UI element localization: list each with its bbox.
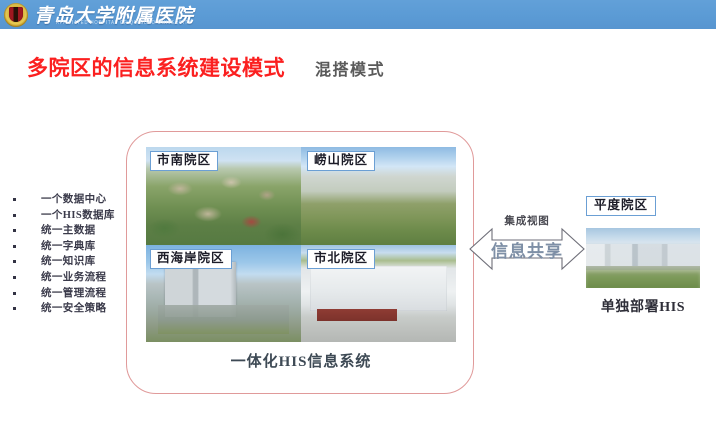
standalone-group-caption: 单独部署HIS bbox=[570, 296, 716, 316]
campus-label-shinan: 市南院区 bbox=[150, 151, 218, 171]
header-band: 青岛大学附属医院 AFFILIATED HOSPITAL OF QINGDAO … bbox=[0, 0, 716, 29]
campus-label-shibei: 市北院区 bbox=[307, 249, 375, 269]
list-item: 统一知识库 bbox=[12, 254, 132, 270]
page-title: 多院区的信息系统建设模式 bbox=[27, 52, 285, 82]
list-item: 一个数据中心 bbox=[12, 192, 132, 208]
page-subtitle-mode: 混搭模式 bbox=[315, 56, 385, 80]
campus-label-xihaian: 西海岸院区 bbox=[150, 249, 232, 269]
integrated-group-caption: 一体化HIS信息系统 bbox=[146, 350, 456, 371]
list-item: 统一安全策略 bbox=[12, 301, 132, 317]
list-item: 统一管理流程 bbox=[12, 286, 132, 302]
list-item: 一个HIS数据库 bbox=[12, 208, 132, 224]
campus-photo-laoshan: 崂山院区 bbox=[301, 147, 456, 245]
campus-photo-xihaian: 西海岸院区 bbox=[146, 245, 301, 343]
feature-bullet-list: 一个数据中心 一个HIS数据库 统一主数据 统一字典库 统一知识库 统一业务流程… bbox=[12, 192, 132, 317]
connector-center-label: 信息共享 bbox=[468, 237, 586, 262]
campus-label-laoshan: 崂山院区 bbox=[307, 151, 375, 171]
campus-photo-collage: 市南院区 崂山院区 西海岸院区 市北院区 bbox=[146, 147, 456, 342]
campus-photo-pingdu bbox=[586, 228, 700, 288]
campus-label-pingdu: 平度院区 bbox=[586, 196, 656, 216]
campus-photo-shibei: 市北院区 bbox=[301, 245, 456, 343]
list-item: 统一业务流程 bbox=[12, 270, 132, 286]
hospital-crest-icon bbox=[4, 3, 28, 27]
list-item: 统一主数据 bbox=[12, 223, 132, 239]
org-name-en: AFFILIATED HOSPITAL OF QINGDAO UNIVERSIT… bbox=[56, 19, 192, 25]
list-item: 统一字典库 bbox=[12, 239, 132, 255]
campus-photo-shinan: 市南院区 bbox=[146, 147, 301, 245]
